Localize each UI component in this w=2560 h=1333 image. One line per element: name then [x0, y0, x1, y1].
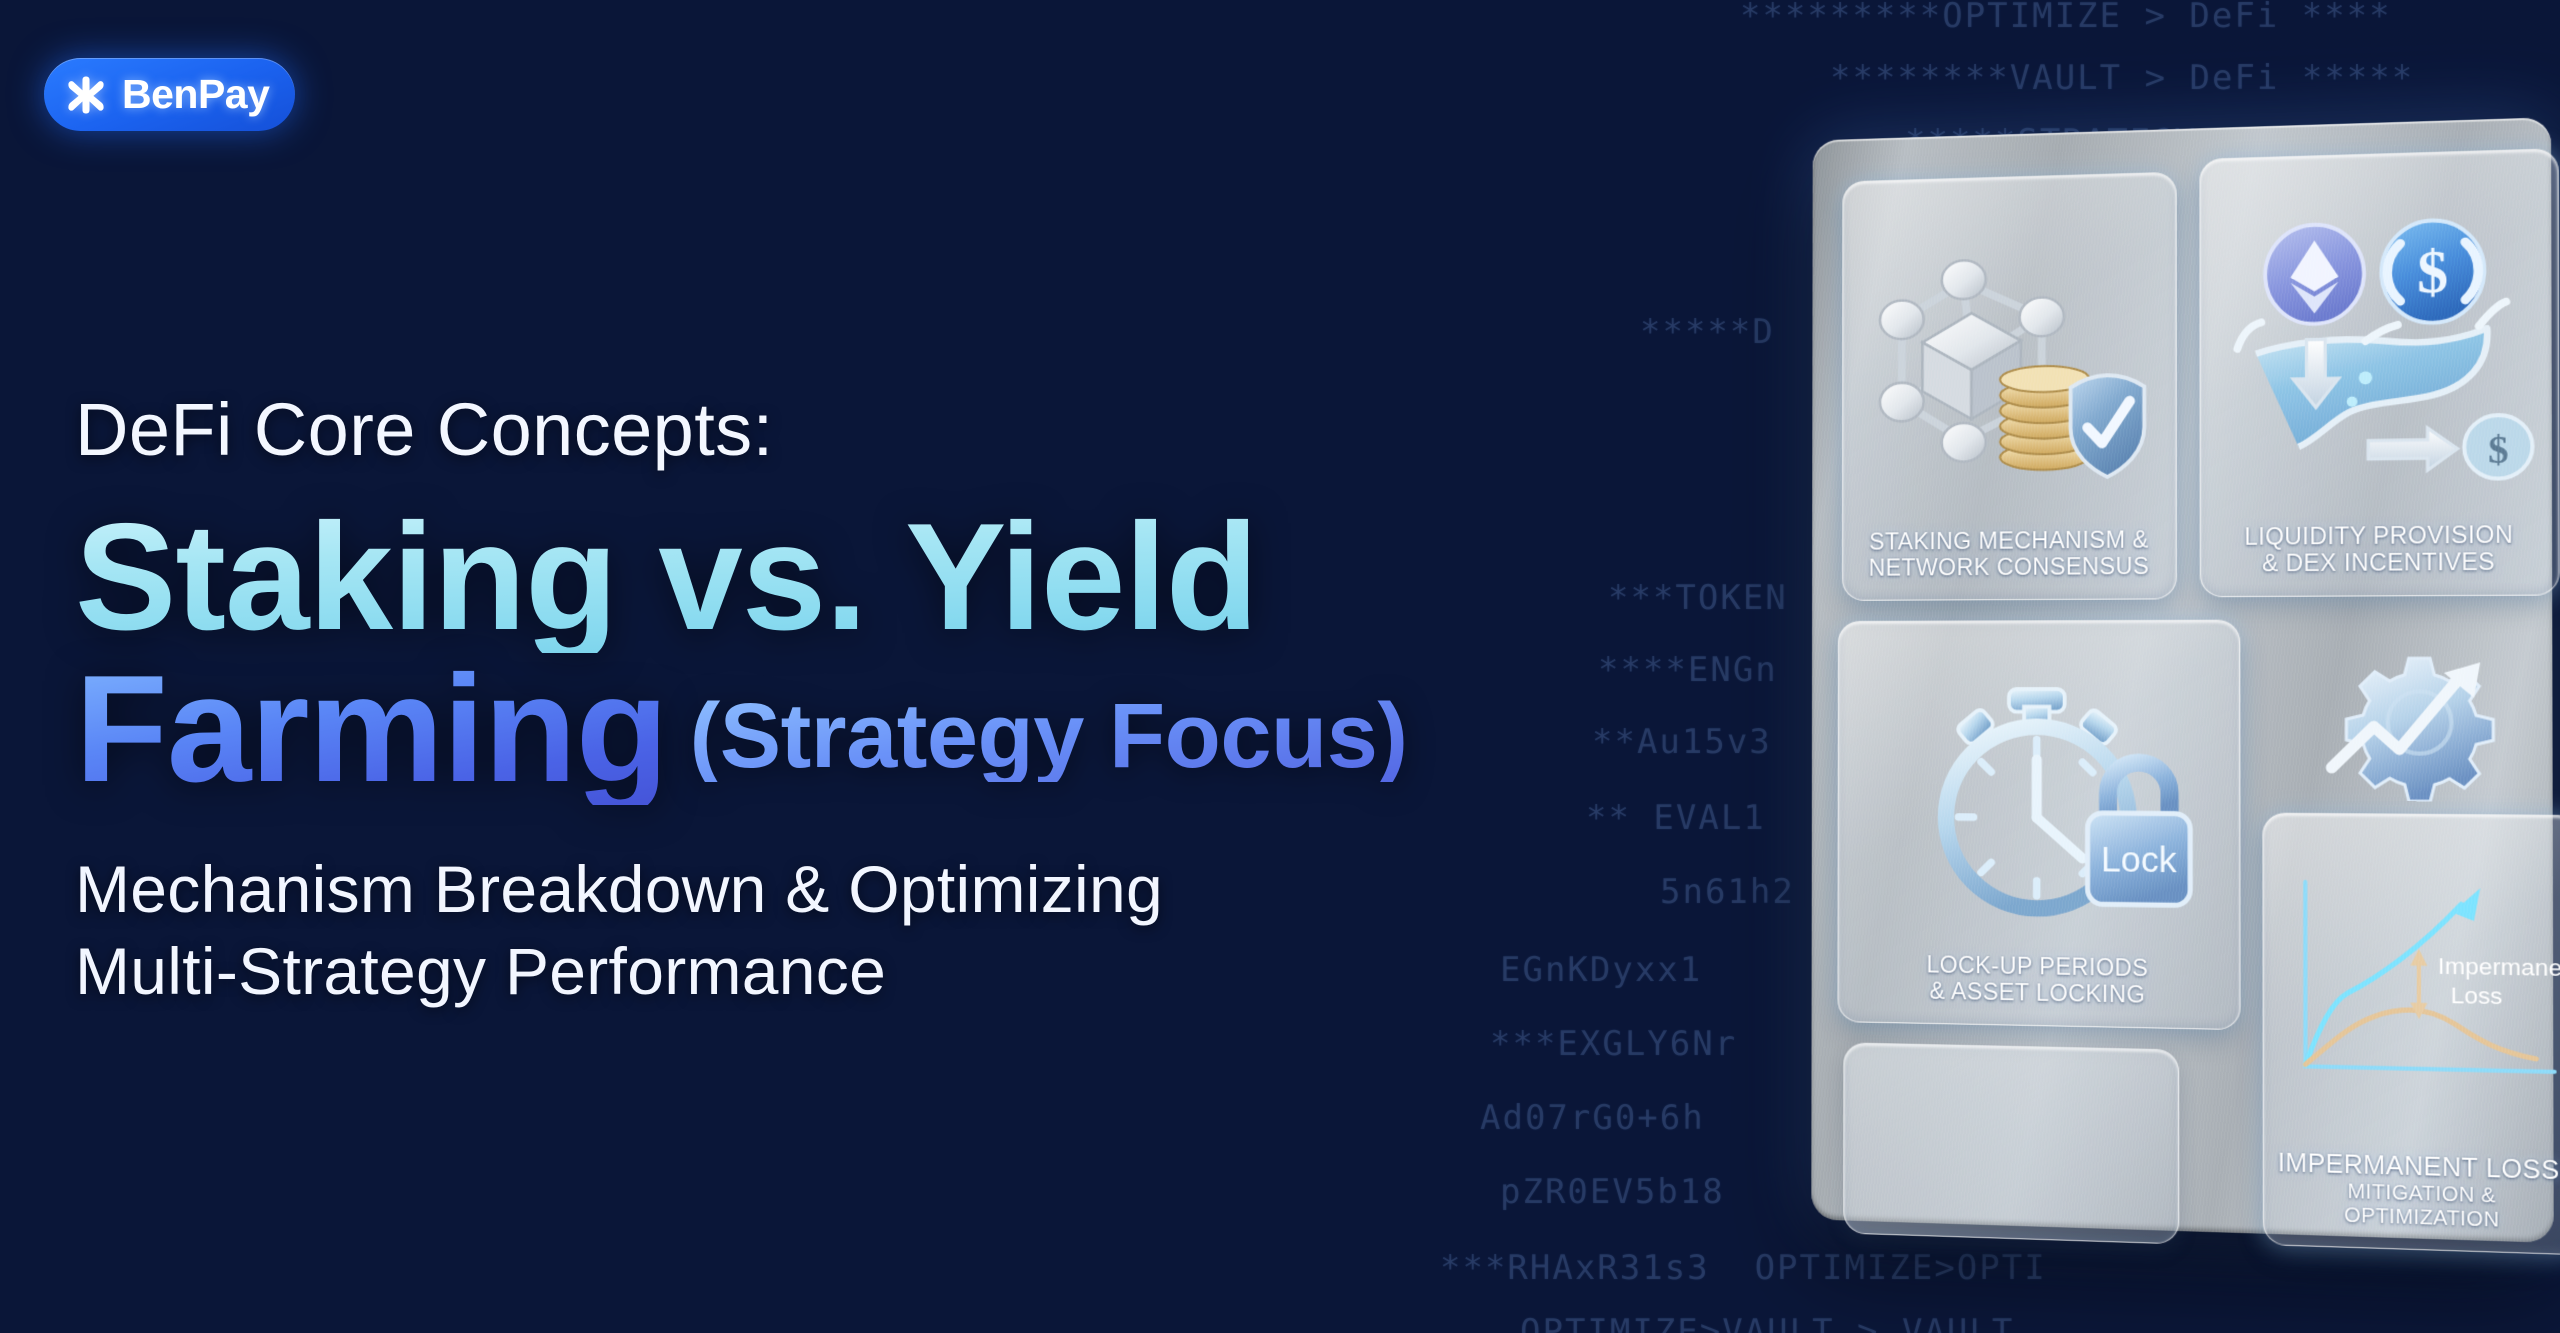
- liquidity-pool-funnel-icon: $: [2211, 166, 2548, 523]
- card-caption: IMPERMANENT LOSS: MITIGATION & OPTIMIZAT…: [2274, 1148, 2560, 1235]
- code-line: 5n61h2: [1660, 872, 1795, 912]
- chart-annotation-line-2: Loss: [2451, 981, 2503, 1009]
- code-line: ***TOKEN: [1608, 578, 1788, 618]
- stopwatch-icon: Lock: [1849, 637, 2230, 956]
- code-line: **Au15v3: [1592, 722, 1772, 762]
- caption-line-1: STAKING MECHANISM &: [1869, 526, 2150, 555]
- chart-annotation-line-1: Impermanent: [2438, 952, 2560, 982]
- svg-text:$: $: [2417, 238, 2448, 306]
- headline-staking-vs-yield: Staking vs. Yield: [75, 501, 1258, 653]
- hero-text-block: DeFi Core Concepts: Staking vs. Yield Fa…: [75, 392, 1575, 1013]
- series-hodl-arrowhead: [2453, 888, 2481, 921]
- caption-line-1: LIQUIDITY PROVISION: [2244, 521, 2513, 551]
- code-line: *********OPTIMIZE > DeFi ****: [1740, 0, 2392, 36]
- code-line: pZR0EV5b18: [1500, 1172, 1725, 1212]
- padlock-icon: Lock: [2088, 762, 2191, 905]
- line-chart-icon: Impermanent Loss: [2274, 830, 2560, 1156]
- concept-card-grid: STAKING MECHANISM & NETWORK CONSENSUS: [1837, 149, 2525, 1210]
- ethereum-coin-icon: [2265, 224, 2364, 325]
- card-artwork: [1853, 189, 2166, 528]
- series-lp: [2305, 1008, 2536, 1070]
- code-line: ********VAULT > DeFi *****: [1830, 58, 2414, 98]
- card-blank-placeholder[interactable]: [1843, 1042, 2179, 1244]
- card-staking-mechanism[interactable]: STAKING MECHANISM & NETWORK CONSENSUS: [1842, 172, 2177, 601]
- brand-name: BenPay: [122, 71, 269, 118]
- svg-text:$: $: [2488, 428, 2509, 472]
- headline-farming: Farming: [75, 653, 668, 805]
- eyebrow-text: DeFi Core Concepts:: [75, 392, 1575, 467]
- headline-line-2: Farming(Strategy Focus): [75, 653, 1575, 805]
- card-artwork: Lock: [1849, 637, 2230, 956]
- concept-panel: STAKING MECHANISM & NETWORK CONSENSUS: [1811, 117, 2553, 1243]
- card-liquidity-provision[interactable]: $: [2199, 148, 2559, 597]
- network-graph-icon: [1853, 189, 2166, 528]
- code-line: ***RHAxR31s3 OPTIMIZE>OPTI: [1440, 1248, 2047, 1288]
- card-impermanent-loss[interactable]: Impermanent Loss IMPERMANENT LOSS: MITIG…: [2262, 813, 2560, 1256]
- card-artwork: Impermanent Loss: [2274, 830, 2560, 1156]
- usd-coin-icon: $: [2381, 219, 2484, 324]
- caption-line-1: LOCK-UP PERIODS: [1926, 951, 2148, 982]
- banner-canvas: *********OPTIMIZE > DeFi **** ********VA…: [0, 0, 2560, 1333]
- card-caption: STAKING MECHANISM & NETWORK CONSENSUS: [1869, 526, 2150, 582]
- headline-strategy-focus: (Strategy Focus): [690, 690, 1408, 782]
- code-line: Ad07rG0+6h: [1480, 1098, 1705, 1138]
- page-title: Staking vs. Yield Farming(Strategy Focus…: [75, 501, 1575, 805]
- caption-line-2: & ASSET LOCKING: [1926, 978, 2148, 1009]
- benpay-logo[interactable]: BenPay: [44, 58, 295, 131]
- caption-line-2: MITIGATION & OPTIMIZATION: [2274, 1178, 2560, 1235]
- asterisk-star-icon: [64, 73, 108, 117]
- caption-line-2: NETWORK CONSENSUS: [1869, 553, 2150, 582]
- headline-line-1: Staking vs. Yield: [75, 501, 1575, 653]
- card-caption: LIQUIDITY PROVISION & DEX INCENTIVES: [2244, 521, 2513, 578]
- reward-coin-icon: $: [2464, 415, 2532, 479]
- code-line: OPTIMIZE>VAULT > VAULT: [1520, 1312, 2014, 1333]
- subtitle-line-2: Multi-Strategy Performance: [75, 931, 1575, 1013]
- code-line: ** EVAL1: [1586, 798, 1766, 838]
- subtitle-block: Mechanism Breakdown & Optimizing Multi-S…: [75, 849, 1575, 1013]
- subtitle-line-1: Mechanism Breakdown & Optimizing: [75, 849, 1575, 931]
- gear-trending-arrow-icon: [2319, 635, 2522, 802]
- lock-label: Lock: [2101, 841, 2178, 881]
- caption-line-2: & DEX INCENTIVES: [2244, 548, 2513, 577]
- code-line: ***EXGLY6Nr: [1490, 1024, 1737, 1064]
- card-lockup-periods[interactable]: Lock LOCK-UP PERIODS & ASSET LOCKING: [1837, 620, 2240, 1031]
- card-caption: LOCK-UP PERIODS & ASSET LOCKING: [1926, 951, 2148, 1009]
- card-artwork: [1854, 1060, 2168, 1225]
- right-arrow-icon: [2368, 428, 2457, 471]
- code-line: *****D: [1640, 312, 1775, 352]
- code-line: ****ENGn: [1598, 650, 1778, 690]
- card-artwork: $: [2211, 166, 2548, 523]
